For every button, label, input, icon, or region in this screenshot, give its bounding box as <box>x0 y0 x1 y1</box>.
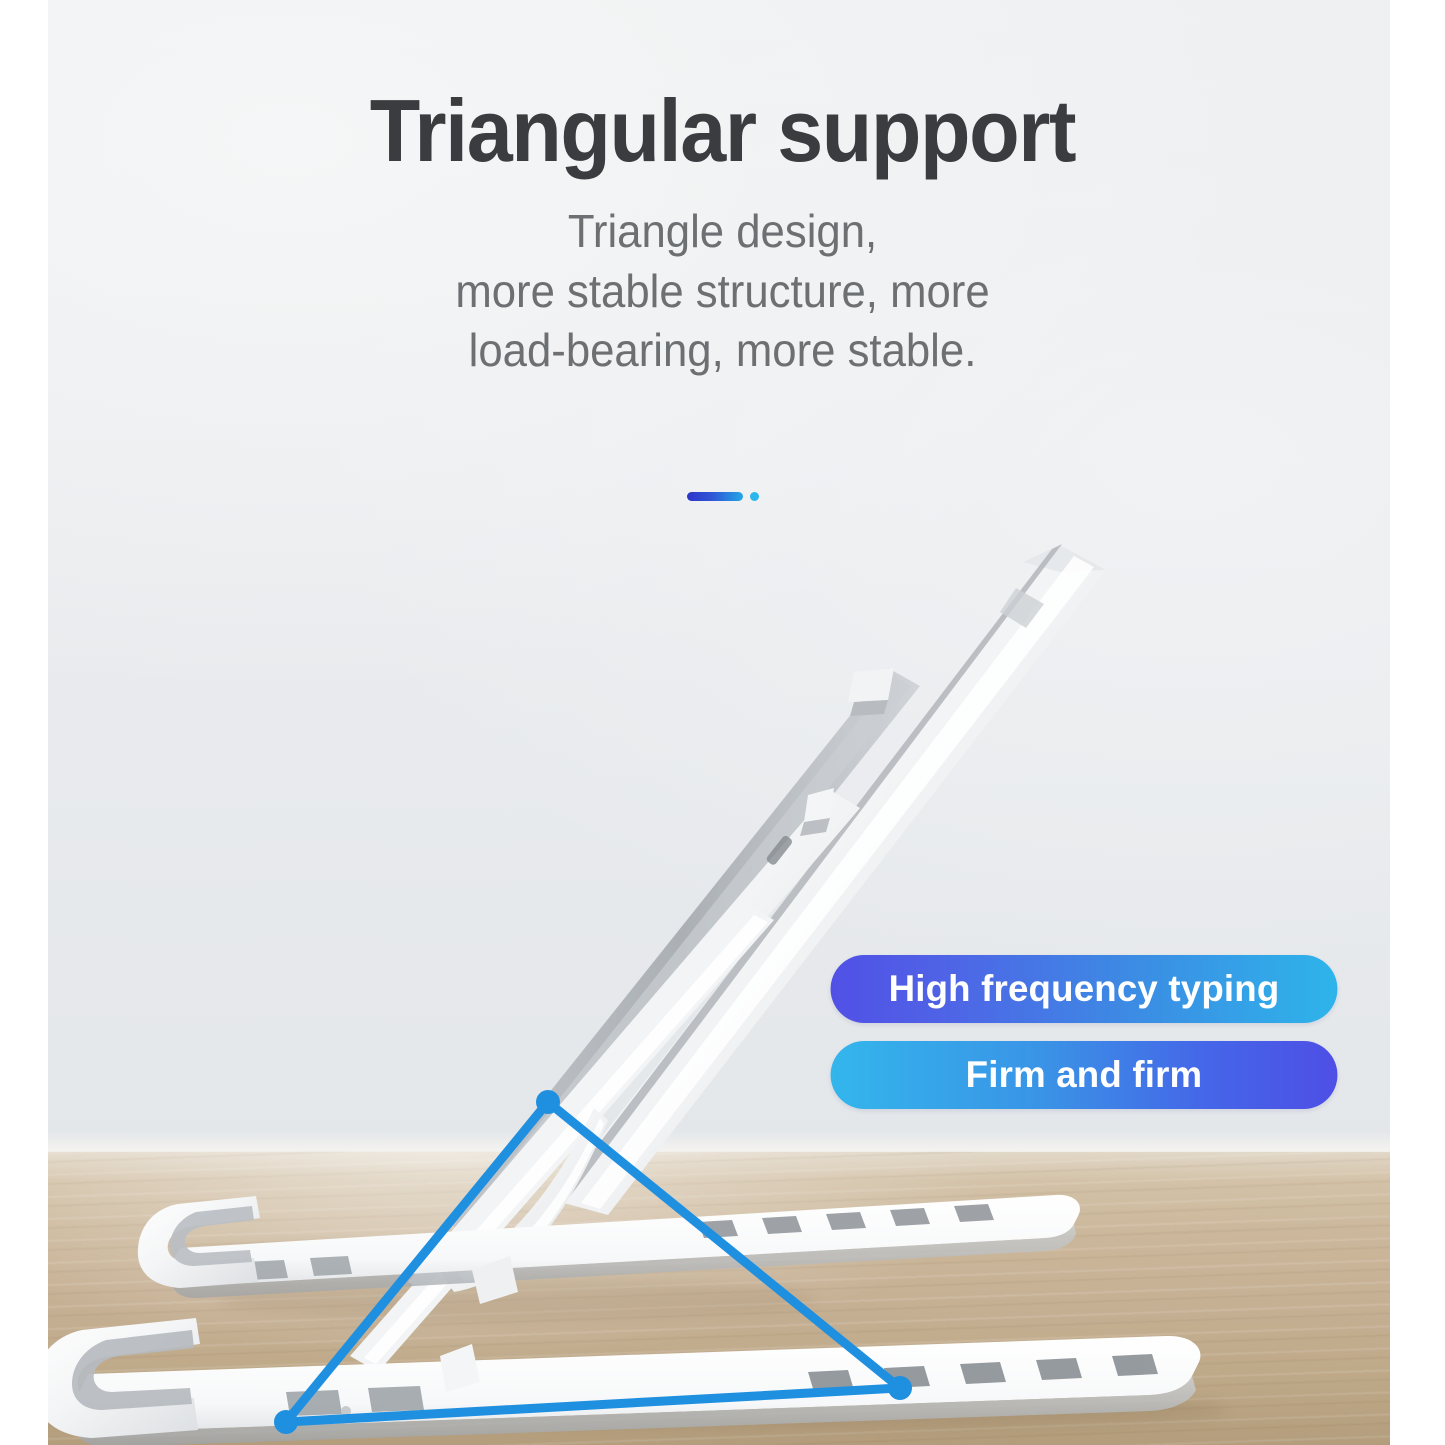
badge-label: Firm and firm <box>966 1054 1203 1096</box>
subtitle-line-3: load-bearing, more stable. <box>36 321 1409 381</box>
feature-badge-group: High frequency typing Firm and firm <box>828 955 1340 1109</box>
section-divider <box>0 492 1445 501</box>
badge-firm-and-firm: Firm and firm <box>831 1041 1338 1109</box>
right-white-margin <box>1390 0 1445 1445</box>
header-block: Triangular support Triangle design, more… <box>0 0 1445 381</box>
subtitle-line-1: Triangle design, <box>36 202 1409 262</box>
divider-bar-icon <box>687 492 743 501</box>
product-feature-banner: Triangular support Triangle design, more… <box>0 0 1445 1445</box>
subtitle-line-2: more stable structure, more <box>36 262 1409 322</box>
badge-label: High frequency typing <box>889 968 1280 1010</box>
left-white-margin <box>0 0 48 1445</box>
page-title: Triangular support <box>43 86 1401 176</box>
page-subtitle: Triangle design, more stable structure, … <box>36 202 1409 381</box>
badge-high-frequency-typing: High frequency typing <box>831 955 1338 1023</box>
divider-dot-icon <box>750 492 759 501</box>
